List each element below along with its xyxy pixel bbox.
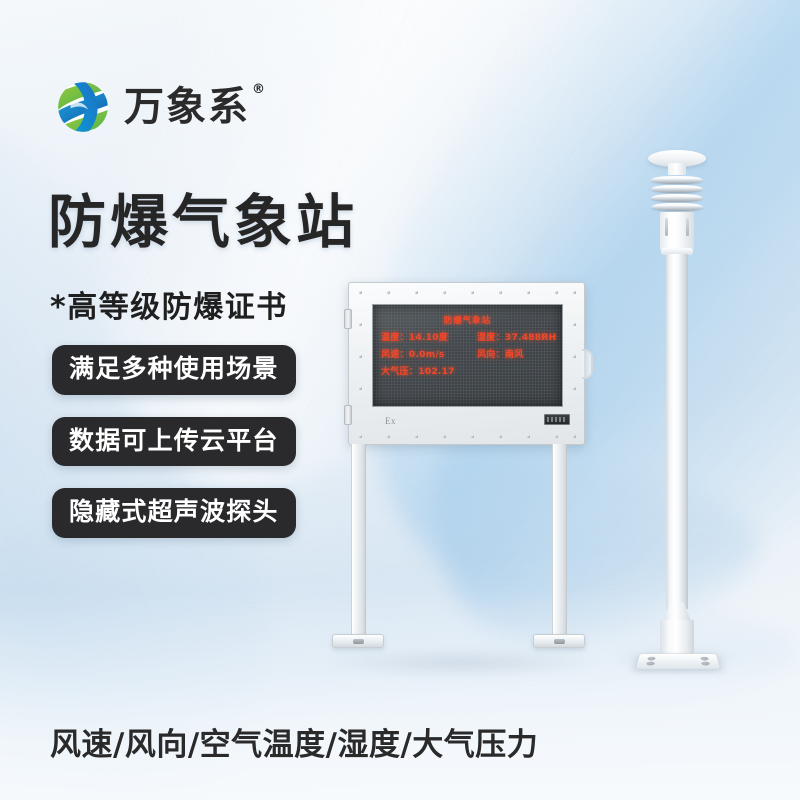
globe-swirl-logo-icon xyxy=(52,76,114,138)
ultrasonic-weather-sensor-mast xyxy=(615,150,740,670)
stand-foot-right xyxy=(533,634,585,648)
mast-pole xyxy=(666,254,688,609)
display-enclosure: 防爆气象站 温度：14.10度 湿度：37.488RH 风速：0.0m/s 风向… xyxy=(348,282,585,445)
led-display-screen: 防爆气象站 温度：14.10度 湿度：37.488RH 风速：0.0m/s 风向… xyxy=(372,304,563,407)
page-title: 防爆气象站 xyxy=(48,192,358,253)
mast-base-flange xyxy=(635,653,722,669)
radiation-shield-ring xyxy=(651,203,703,211)
radiation-shield-ring xyxy=(651,185,703,193)
led-readings: 温度：14.10度 湿度：37.488RH 风速：0.0m/s 风向：南风 大气… xyxy=(381,331,562,380)
sensor-body xyxy=(660,212,694,250)
enclosure-nameplate xyxy=(544,414,570,425)
product-poster: 万象系 ® 防爆气象站 *高等级防爆证书 满足多种使用场景 数据可上传云平台 隐… xyxy=(0,0,800,800)
radiation-shield-ring xyxy=(651,176,703,184)
radiation-shield-ring xyxy=(651,194,703,202)
enclosure-hinge-bottom xyxy=(344,405,352,425)
sensor-cap-stem xyxy=(668,163,686,175)
ex-certification-marking: Ex xyxy=(385,416,396,426)
stand-foot-left xyxy=(332,634,384,648)
reading-humidity: 湿度：37.488RH xyxy=(477,331,562,346)
reading-wind-direction: 风向：南风 xyxy=(477,348,562,363)
feature-pill: 满足多种使用场景 xyxy=(52,345,296,395)
enclosure-handle[interactable] xyxy=(582,349,593,379)
stand-leg-left xyxy=(351,444,366,637)
reading-temperature: 温度：14.10度 xyxy=(381,331,477,346)
registered-trademark-icon: ® xyxy=(252,83,267,96)
explosion-proof-display-stand: 防爆气象站 温度：14.10度 湿度：37.488RH 风速：0.0m/s 风向… xyxy=(320,282,600,662)
brand-name: 万象系 xyxy=(124,84,250,130)
stand-leg-right xyxy=(552,444,567,637)
enclosure-hinge-top xyxy=(344,309,352,329)
page-subtitle: *高等级防爆证书 xyxy=(50,282,288,326)
feature-pill: 数据可上传云平台 xyxy=(52,417,296,467)
reading-wind-speed: 风速：0.0m/s xyxy=(381,348,477,363)
brand-logo: 万象系 ® xyxy=(52,76,250,138)
feature-list: 满足多种使用场景 数据可上传云平台 隐藏式超声波探头 xyxy=(52,345,296,538)
led-display-title: 防爆气象站 xyxy=(373,314,562,326)
brand-name-text: 万象系 ® xyxy=(124,87,250,127)
feature-caption: 风速/风向/空气温度/湿度/大气压力 xyxy=(50,719,538,764)
feature-pill: 隐藏式超声波探头 xyxy=(52,488,296,538)
reading-air-pressure: 大气压：102.17 xyxy=(381,365,477,380)
